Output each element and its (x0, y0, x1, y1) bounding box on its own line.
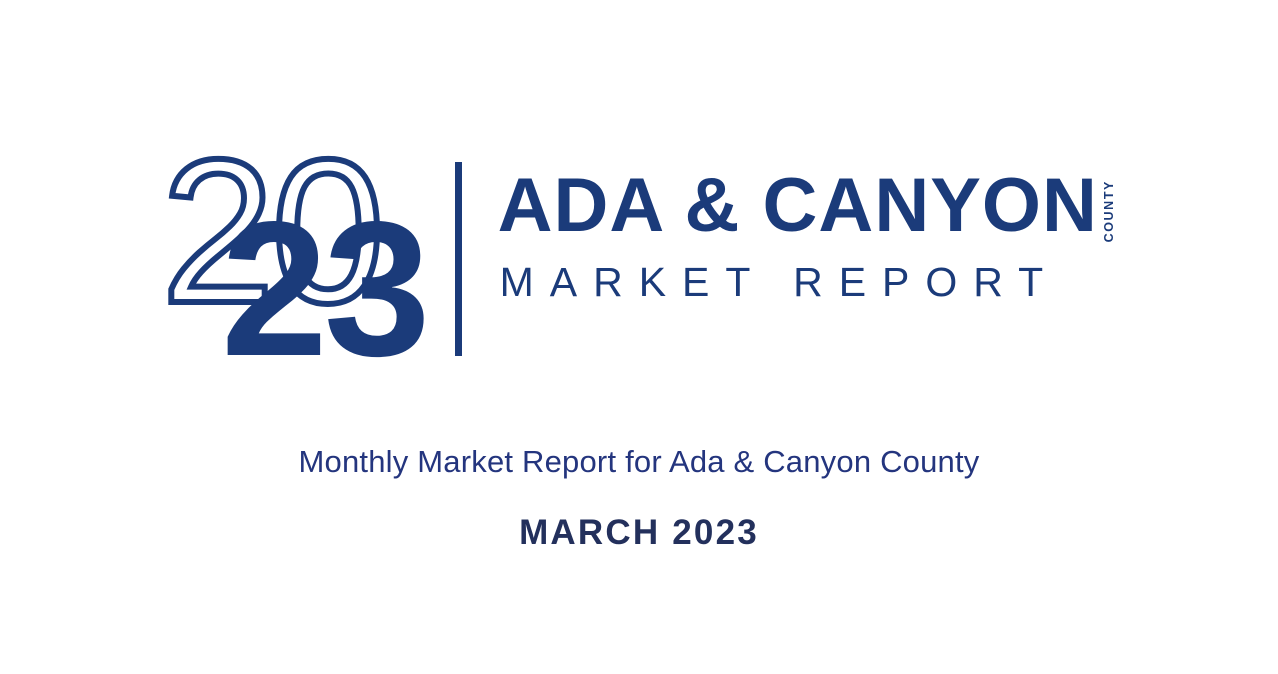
county-tag-text: COUNTY (1103, 180, 1116, 242)
brand-name-row: ADA & CANYON COUNTY (498, 170, 1116, 243)
year-mark-icon: 20 23 (163, 150, 441, 360)
report-date: MARCH 2023 (0, 513, 1278, 553)
year-mark-2023: 20 23 (163, 150, 441, 360)
logo-inner-group: 20 23 ADA & CANYON COUNTY MARKET REPORT (163, 150, 1116, 360)
logo-divider-rule (455, 162, 462, 356)
brand-logo-lockup: 20 23 ADA & CANYON COUNTY MARKET REPORT (0, 150, 1278, 360)
svg-text:23: 23 (221, 181, 427, 360)
report-cover-page: 20 23 ADA & CANYON COUNTY MARKET REPORT … (0, 0, 1278, 674)
report-description: Monthly Market Report for Ada & Canyon C… (0, 443, 1278, 482)
brand-wordmark: ADA & CANYON COUNTY MARKET REPORT (498, 150, 1116, 360)
brand-subtitle-text: MARKET REPORT (500, 259, 1116, 306)
cover-subtitle-block: Monthly Market Report for Ada & Canyon C… (0, 443, 1278, 553)
brand-name-text: ADA & CANYON (498, 170, 1098, 243)
